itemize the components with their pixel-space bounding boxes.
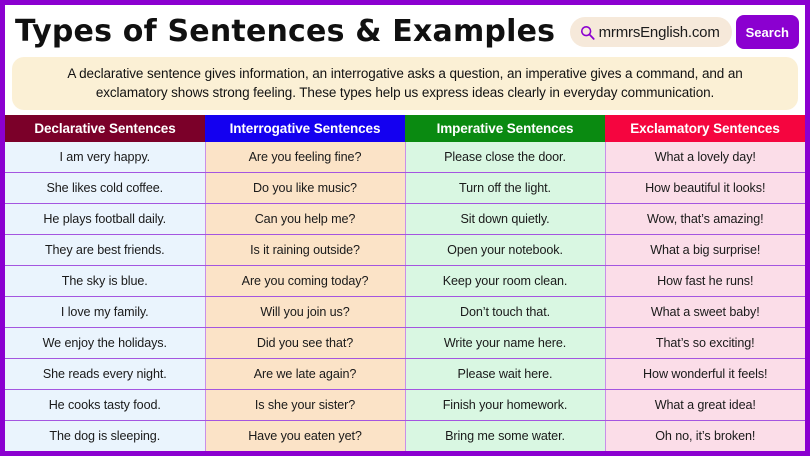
search-area: mrmrsEnglish.com Search [570,15,799,49]
header-bar: Types of Sentences & Examples mrmrsEngli… [5,5,805,57]
sentence-table: Declarative Sentences Interrogative Sent… [5,115,805,451]
cell-declarative: He cooks tasty food. [5,390,205,421]
cell-exclamatory: How wonderful it feels! [605,359,805,390]
cell-exclamatory: Oh no, it’s broken! [605,421,805,451]
cell-imperative: Write your name here. [405,328,605,359]
table-row: I love my family.Will you join us?Don’t … [5,297,805,328]
cell-interrogative: Will you join us? [205,297,405,328]
cell-declarative: She likes cold coffee. [5,172,205,203]
column-header-imperative: Imperative Sentences [405,115,605,142]
table-header: Declarative Sentences Interrogative Sent… [5,115,805,142]
cell-exclamatory: How beautiful it looks! [605,172,805,203]
cell-interrogative: Is she your sister? [205,390,405,421]
search-input-value: mrmrsEnglish.com [599,24,720,41]
table-body: I am very happy.Are you feeling fine?Ple… [5,142,805,451]
cell-imperative: Bring me some water. [405,421,605,451]
table-row: She likes cold coffee.Do you like music?… [5,172,805,203]
cell-interrogative: Are we late again? [205,359,405,390]
description-panel: A declarative sentence gives information… [12,57,798,110]
cell-interrogative: Are you feeling fine? [205,142,405,172]
cell-interrogative: Have you eaten yet? [205,421,405,451]
column-header-declarative: Declarative Sentences [5,115,205,142]
search-button[interactable]: Search [736,15,799,49]
cell-imperative: Open your notebook. [405,234,605,265]
cell-exclamatory: How fast he runs! [605,266,805,297]
cell-exclamatory: What a great idea! [605,390,805,421]
cell-interrogative: Can you help me? [205,203,405,234]
cell-declarative: The sky is blue. [5,266,205,297]
cell-exclamatory: What a big surprise! [605,234,805,265]
cell-interrogative: Are you coming today? [205,266,405,297]
cell-exclamatory: Wow, that’s amazing! [605,203,805,234]
cell-exclamatory: What a lovely day! [605,142,805,172]
cell-imperative: Please wait here. [405,359,605,390]
search-input[interactable]: mrmrsEnglish.com [570,17,732,47]
cell-declarative: I am very happy. [5,142,205,172]
cell-exclamatory: What a sweet baby! [605,297,805,328]
cell-declarative: The dog is sleeping. [5,421,205,451]
page-title: Types of Sentences & Examples [15,17,555,47]
cell-imperative: Please close the door. [405,142,605,172]
table-row: The sky is blue.Are you coming today?Kee… [5,266,805,297]
cell-interrogative: Do you like music? [205,172,405,203]
table-row: He cooks tasty food.Is she your sister?F… [5,390,805,421]
table-row: She reads every night.Are we late again?… [5,359,805,390]
column-header-exclamatory: Exclamatory Sentences [605,115,805,142]
cell-imperative: Don’t touch that. [405,297,605,328]
cell-interrogative: Is it raining outside? [205,234,405,265]
description-text: A declarative sentence gives information… [30,64,780,102]
table-header-row: Declarative Sentences Interrogative Sent… [5,115,805,142]
content-card: Types of Sentences & Examples mrmrsEngli… [5,5,805,451]
table-row: We enjoy the holidays.Did you see that?W… [5,328,805,359]
cell-declarative: She reads every night. [5,359,205,390]
cell-imperative: Turn off the light. [405,172,605,203]
cell-interrogative: Did you see that? [205,328,405,359]
cell-imperative: Finish your homework. [405,390,605,421]
sentence-table-container: Declarative Sentences Interrogative Sent… [5,115,805,451]
cell-imperative: Sit down quietly. [405,203,605,234]
search-icon [580,25,595,40]
table-row: They are best friends.Is it raining outs… [5,234,805,265]
table-row: The dog is sleeping.Have you eaten yet?B… [5,421,805,451]
table-row: He plays football daily.Can you help me?… [5,203,805,234]
cell-declarative: I love my family. [5,297,205,328]
column-header-interrogative: Interrogative Sentences [205,115,405,142]
cell-exclamatory: That’s so exciting! [605,328,805,359]
cell-imperative: Keep your room clean. [405,266,605,297]
cell-declarative: We enjoy the holidays. [5,328,205,359]
table-row: I am very happy.Are you feeling fine?Ple… [5,142,805,172]
cell-declarative: They are best friends. [5,234,205,265]
cell-declarative: He plays football daily. [5,203,205,234]
page-background: Types of Sentences & Examples mrmrsEngli… [0,0,810,456]
